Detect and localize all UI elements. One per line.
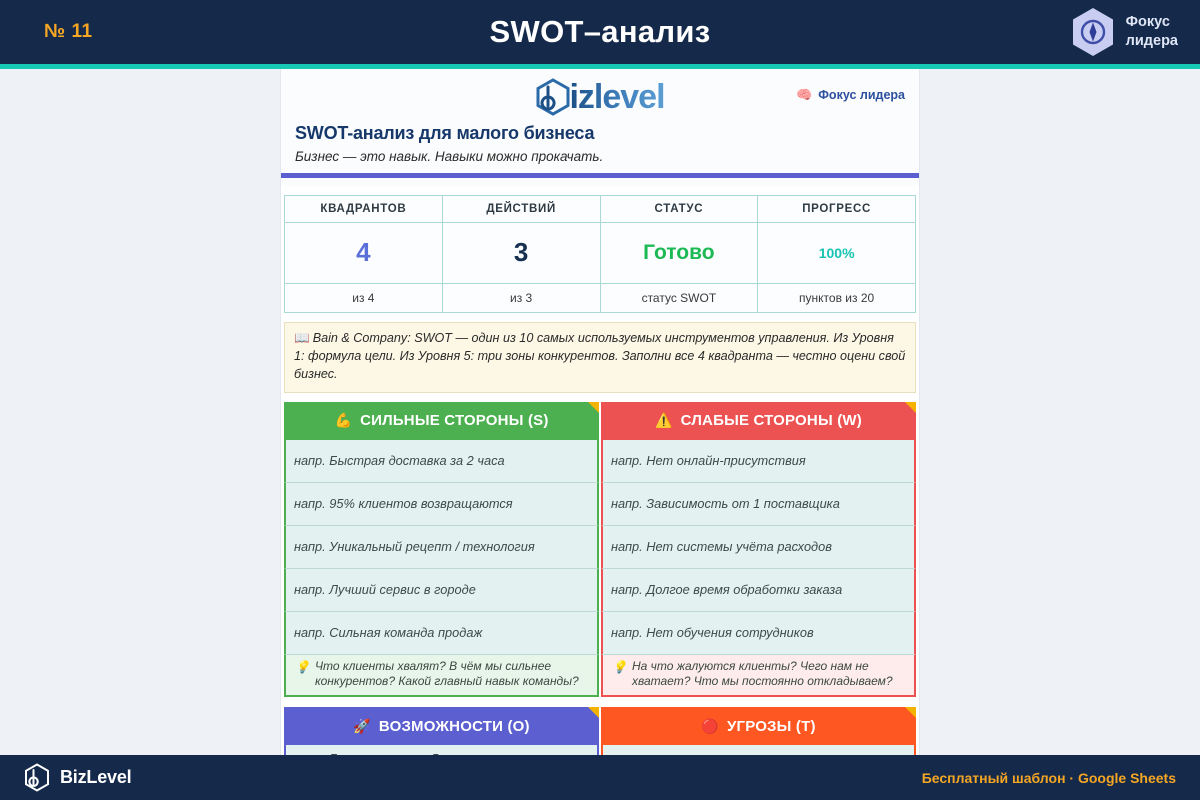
quadrant-threats-title: УГРОЗЫ (T) [727, 718, 816, 735]
quadrant-strengths-hint: 💡 Что клиенты хвалят? В чём мы сильнее к… [284, 655, 599, 698]
bizlevel-logo: izlevel [535, 78, 664, 116]
stats-value-cell: 100% [758, 223, 916, 284]
document-header: izlevel 🧠 Фокус лидера SWOT-анализ для м… [281, 69, 919, 186]
book-icon: 📖 [294, 331, 310, 345]
swot-item-cell[interactable]: напр. Уникальный рецепт / технология [284, 526, 599, 569]
footer-brand-name: BizLevel [60, 767, 131, 788]
swot-grid: 💪 СИЛЬНЫЕ СТОРОНЫ (S) напр. Быстрая дост… [284, 402, 916, 755]
hexagon-leader-icon [1071, 7, 1115, 57]
comment-corner-icon [905, 402, 916, 413]
stats-caption-cell: из 3 [442, 284, 600, 313]
comment-corner-icon [905, 707, 916, 718]
quadrant-opportunities-header: 🚀 ВОЗМОЖНОСТИ (O) [284, 707, 599, 745]
swot-item-cell[interactable]: напр. Нет системы учёта расходов [601, 526, 916, 569]
quadrant-weaknesses-hint: 💡 На что жалуются клиенты? Чего нам не х… [601, 655, 916, 698]
quadrant-threats: 🔴 УГРОЗЫ (T) напр. Новый конкурент с низ… [601, 707, 916, 755]
light-bulb-icon: 💡 [612, 660, 627, 676]
stats-value-cell: 4 [285, 223, 443, 284]
document-subtitle: Бизнес — это навык. Навыки можно прокача… [295, 149, 905, 164]
leader-focus-badge: Фокус лидера [1071, 7, 1178, 57]
stats-header-cell: ПРОГРЕСС [758, 196, 916, 223]
quadrant-strengths: 💪 СИЛЬНЫЕ СТОРОНЫ (S) напр. Быстрая дост… [284, 402, 599, 698]
stats-header-cell: ДЕЙСТВИЙ [442, 196, 600, 223]
quadrant-weaknesses-header: ⚠️ СЛАБЫЕ СТОРОНЫ (W) [601, 402, 916, 440]
stats-header-cell: КВАДРАНТОВ [285, 196, 443, 223]
bizlevel-hexagon-logo-icon [24, 763, 50, 792]
document-focus-tag: 🧠 Фокус лидера [796, 87, 905, 103]
swot-item-cell[interactable]: напр. Нет обучения сотрудников [601, 612, 916, 655]
stats-caption-cell: статус SWOT [600, 284, 758, 313]
document-focus-label: Фокус лидера [818, 88, 905, 102]
swot-item-cell[interactable]: напр. Быстрая доставка за 2 часа [284, 440, 599, 483]
warning-icon: ⚠️ [655, 412, 673, 429]
swot-row-bottom: 🚀 ВОЗМОЖНОСТИ (O) напр. Гос.программа «Д… [284, 707, 916, 755]
slide-footer-bar: BizLevel Бесплатный шаблон · Google Shee… [0, 755, 1200, 800]
page-title: SWOT–анализ [0, 14, 1200, 50]
comment-corner-icon [588, 707, 599, 718]
quadrant-opportunities-title: ВОЗМОЖНОСТИ (O) [379, 718, 530, 735]
swot-row-top: 💪 СИЛЬНЫЕ СТОРОНЫ (S) напр. Быстрая дост… [284, 402, 916, 698]
spreadsheet-document[interactable]: izlevel 🧠 Фокус лидера SWOT-анализ для м… [280, 69, 920, 755]
footer-brand: BizLevel [24, 763, 131, 792]
document-logo-row: izlevel 🧠 Фокус лидера [295, 78, 905, 116]
stats-value-cell: Готово [600, 223, 758, 284]
rocket-icon: 🚀 [353, 718, 371, 735]
stats-header-row: КВАДРАНТОВ ДЕЙСТВИЙ СТАТУС ПРОГРЕСС [285, 196, 916, 223]
bizlevel-logo-text: izlevel [569, 80, 664, 114]
swot-item-cell[interactable]: напр. Сильная команда продаж [284, 612, 599, 655]
swot-item-cell[interactable]: напр. Долгое время обработки заказа [601, 569, 916, 612]
document-divider [281, 173, 919, 178]
quadrant-weaknesses-title: СЛАБЫЕ СТОРОНЫ (W) [681, 412, 862, 429]
stats-table: КВАДРАНТОВ ДЕЙСТВИЙ СТАТУС ПРОГРЕСС 4 3 … [284, 195, 916, 313]
red-circle-icon: 🔴 [701, 718, 719, 735]
brain-icon: 🧠 [796, 87, 812, 103]
light-bulb-icon: 💡 [295, 660, 310, 676]
stats-header-cell: СТАТУС [600, 196, 758, 223]
swot-item-cell[interactable]: напр. Гос.программа «Дорожная карта бизн… [284, 745, 599, 755]
slide-header-bar: № 11 SWOT–анализ Фокус лидера [0, 0, 1200, 64]
stats-caption-cell: из 4 [285, 284, 443, 313]
comment-corner-icon [588, 402, 599, 413]
stats-caption-cell: пунктов из 20 [758, 284, 916, 313]
footer-note: Бесплатный шаблон · Google Sheets [922, 770, 1176, 786]
slide-root: № 11 SWOT–анализ Фокус лидера izlevel [0, 0, 1200, 800]
swot-item-cell[interactable]: напр. Новый конкурент с низкими ценами [601, 745, 916, 755]
quadrant-hint-text: На что жалуются клиенты? Чего нам не хва… [632, 659, 907, 691]
quadrant-threats-header: 🔴 УГРОЗЫ (T) [601, 707, 916, 745]
swot-item-cell[interactable]: напр. Лучший сервис в городе [284, 569, 599, 612]
document-title: SWOT-анализ для малого бизнеса [295, 123, 905, 144]
info-note-text: Bain & Company: SWOT — один из 10 самых … [294, 331, 905, 381]
leader-focus-label: Фокус лидера [1126, 13, 1178, 50]
bizlevel-hexagon-logo-icon [535, 78, 571, 116]
quadrant-opportunities: 🚀 ВОЗМОЖНОСТИ (O) напр. Гос.программа «Д… [284, 707, 599, 755]
swot-item-cell[interactable]: напр. 95% клиентов возвращаются [284, 483, 599, 526]
quadrant-hint-text: Что клиенты хвалят? В чём мы сильнее кон… [315, 659, 590, 691]
quadrant-strengths-header: 💪 СИЛЬНЫЕ СТОРОНЫ (S) [284, 402, 599, 440]
swot-item-cell[interactable]: напр. Зависимость от 1 поставщика [601, 483, 916, 526]
stats-value-cell: 3 [442, 223, 600, 284]
swot-item-cell[interactable]: напр. Нет онлайн-присутствия [601, 440, 916, 483]
quadrant-strengths-title: СИЛЬНЫЕ СТОРОНЫ (S) [360, 412, 548, 429]
quadrant-weaknesses: ⚠️ СЛАБЫЕ СТОРОНЫ (W) напр. Нет онлайн-п… [601, 402, 916, 698]
stats-caption-row: из 4 из 3 статус SWOT пунктов из 20 [285, 284, 916, 313]
stats-value-row: 4 3 Готово 100% [285, 223, 916, 284]
info-note: 📖Bain & Company: SWOT — один из 10 самых… [284, 322, 916, 393]
flexed-biceps-icon: 💪 [334, 412, 352, 429]
